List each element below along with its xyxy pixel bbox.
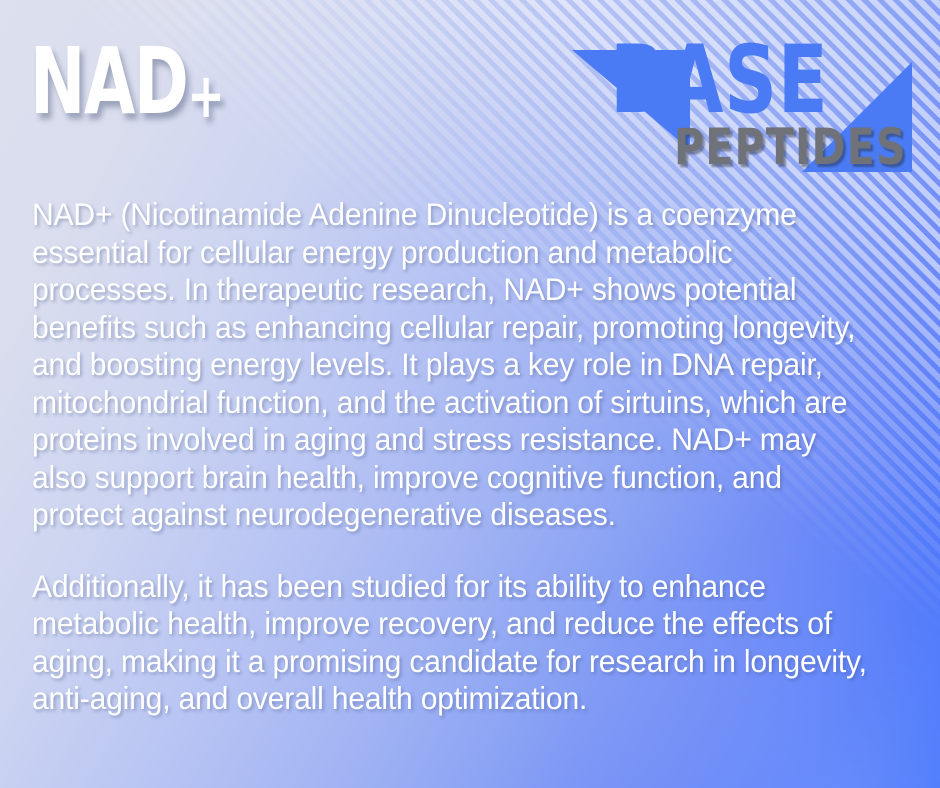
page-title: NAD+	[30, 36, 223, 142]
logo-secondary-text: PEPTIDES	[674, 122, 907, 172]
description-paragraph-1: NAD+ (Nicotinamide Adenine Dinucleotide)…	[32, 196, 876, 534]
description-block: NAD+ (Nicotinamide Adenine Dinucleotide)…	[32, 196, 916, 718]
brand-logo: BASE PEPTIDES	[562, 22, 922, 182]
description-paragraph-2: Additionally, it has been studied for it…	[32, 568, 876, 718]
product-title-plus: +	[187, 59, 223, 132]
product-title-text: NAD	[30, 28, 187, 135]
logo-primary-text: BASE	[610, 34, 829, 128]
product-info-card: NAD+ BASE PEPTIDES NAD+ (Nicotinamide Ad…	[0, 0, 940, 788]
